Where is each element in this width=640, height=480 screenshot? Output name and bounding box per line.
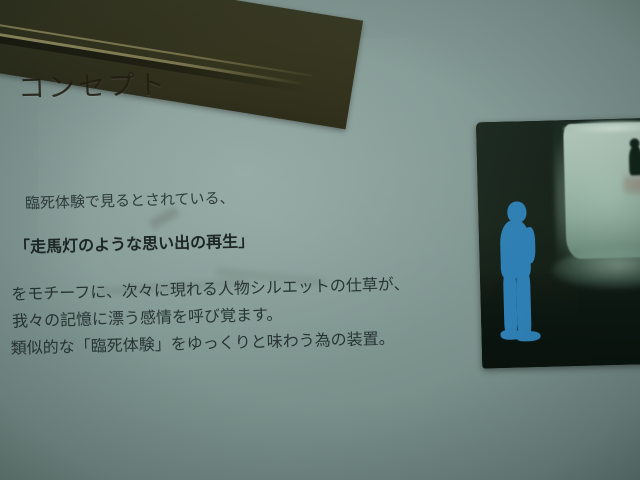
blue-person-silhouette	[494, 201, 544, 344]
slide-title: コンセプト	[17, 63, 168, 106]
slide-body-text: 臨死体験で見るとされている、 「走馬灯のような思い出の再生」 をモチーフに、次々…	[7, 185, 481, 357]
silhouette-foot-right	[517, 331, 541, 342]
lantern-cylinder	[563, 122, 640, 260]
projected-slide-photograph: コンセプト 臨死体験で見るとされている、 「走馬灯のような思い出の再生」 をモチ…	[0, 0, 640, 480]
slide-photo	[476, 118, 640, 368]
slide-body-line-5: 類似的な「臨死体験」をゆっくりと味わう為の装置。	[11, 328, 481, 356]
slide-body-line-2: 「走馬灯のような思い出の再生」	[14, 228, 478, 256]
lantern-figure-silhouette	[629, 145, 640, 175]
silhouette-leg-right	[516, 273, 532, 337]
lantern-inner-detail	[623, 173, 640, 196]
slide-body-line-1: 臨死体験で見るとされている、	[25, 185, 477, 212]
slide-content: コンセプト 臨死体験で見るとされている、 「走馬灯のような思い出の再生」 をモチ…	[0, 0, 640, 480]
slide-body-line-4: 我々の記憶に漂う感情を呼び覚ます。	[12, 301, 480, 329]
silhouette-arm	[524, 227, 536, 263]
slide-body-line-3: をモチーフに、次々に現れる人物シルエットの仕草が、	[11, 274, 479, 302]
